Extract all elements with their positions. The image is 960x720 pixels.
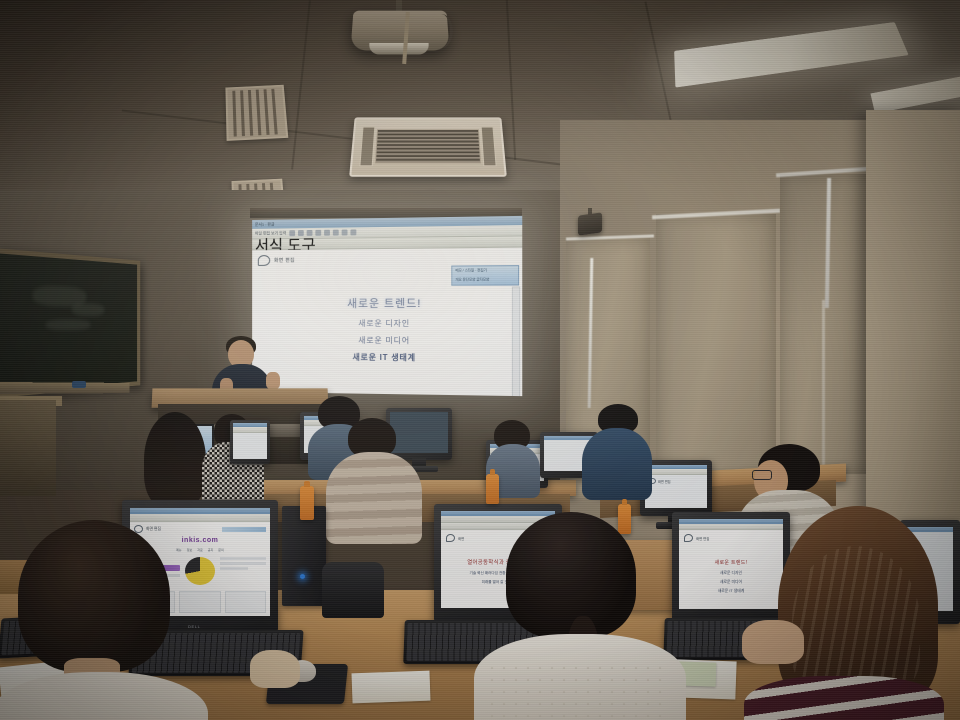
glasses-icon	[752, 470, 772, 480]
chalk-tray	[0, 382, 130, 394]
toolbar-icon	[341, 229, 347, 235]
speech-bubble-icon	[684, 534, 693, 542]
speech-bubble-icon	[446, 534, 455, 542]
document-canvas: 화면 편집 메모 / 스타일 · 편집기 개요 문단모양 글자모양 새로운 트렌…	[252, 248, 522, 397]
mid-right-line-3	[649, 505, 703, 508]
toolbar-icon	[350, 229, 356, 235]
toolbar-icon	[333, 230, 339, 236]
lace-pattern	[486, 662, 666, 720]
roller-blind	[656, 214, 776, 494]
speech-bubble-icon	[258, 255, 270, 266]
front-right-slide-line-4: 새로운 IT 생태계	[684, 589, 778, 594]
hand-on-mouse	[250, 650, 300, 688]
document-header-text: 화면 편집	[274, 257, 295, 264]
browser-search-bar[interactable]	[222, 527, 266, 532]
website-title: inkis.com	[134, 537, 266, 544]
front-right-monitor[interactable]: 화면 편집 새로운 트렌드! 새로운 디자인 새로운 미디어 새로운 IT 생태…	[672, 512, 790, 622]
hair-highlights	[792, 546, 920, 696]
back-monitor-2	[386, 408, 452, 460]
projection-screen: 문서1 - 한글 파일 편집 보기 입력 서식 도구	[252, 216, 522, 396]
slide-text-block: 새로운 트렌드! 새로운 디자인 새로운 미디어 새로운 IT 생태계	[252, 295, 522, 365]
document-header: 화면 편집	[258, 253, 516, 266]
slide-line-3: 새로운 미디어	[252, 334, 522, 347]
toolbar-icon	[289, 230, 295, 236]
drink-bottle-2	[486, 474, 499, 504]
mid-right-monitor-header: 화면 편집	[658, 479, 671, 484]
desktop-tower-left	[282, 506, 326, 606]
toolbar-icon	[306, 230, 312, 236]
hand-right-student	[742, 620, 804, 664]
front-right-slide-line-1: 새로운 트렌드!	[684, 559, 778, 566]
left-cabinet	[0, 400, 56, 496]
mid-right-line-2	[649, 499, 703, 503]
air-conditioner-cassette	[349, 117, 507, 176]
slide-line-4: 새로운 IT 생태계	[252, 351, 522, 364]
front-right-slide-line-3: 새로운 미디어	[684, 580, 778, 585]
side-panel-line-2: 개요 문단모양 글자모양	[452, 275, 518, 285]
front-center-header: 화면	[458, 536, 464, 541]
side-panel-line-1: 메모 / 스타일 · 편집기	[452, 266, 518, 276]
document-side-panel: 메모 / 스타일 · 편집기 개요 문단모양 글자모양	[451, 265, 519, 286]
projector-cable	[430, 14, 453, 48]
front-left-header: 화면 편집	[146, 527, 161, 532]
mid-monitor-left	[230, 420, 270, 464]
paper-note-1	[352, 671, 431, 704]
chalkboard	[0, 248, 140, 398]
pie-chart-graphic	[185, 557, 215, 585]
presenter-hand-right	[266, 372, 280, 389]
photo-scene: 문서1 - 한글 파일 편집 보기 입력 서식 도구	[0, 0, 960, 720]
toolbar-icon	[315, 230, 321, 236]
slide-line-1: 새로운 트렌드!	[252, 295, 522, 311]
front-right-slide-line-2: 새로운 디자인	[684, 571, 778, 576]
drink-bottle-3	[618, 504, 631, 534]
toolbar-icon	[298, 230, 304, 236]
slide-line-2: 새로운 디자인	[252, 318, 522, 330]
mid-right-line-1	[649, 491, 703, 496]
toolbar-icon	[324, 230, 330, 236]
monitor-brand-logo: DELL	[188, 624, 200, 629]
ceiling-vent-icon	[225, 85, 288, 141]
app-titlebar-text: 문서1 - 한글	[255, 221, 275, 227]
front-right-header: 화면 편집	[696, 536, 709, 541]
drink-bottle-1	[300, 486, 314, 520]
chair-mid	[322, 562, 384, 618]
chalkboard-eraser	[72, 381, 86, 388]
wall-speaker	[578, 212, 602, 235]
